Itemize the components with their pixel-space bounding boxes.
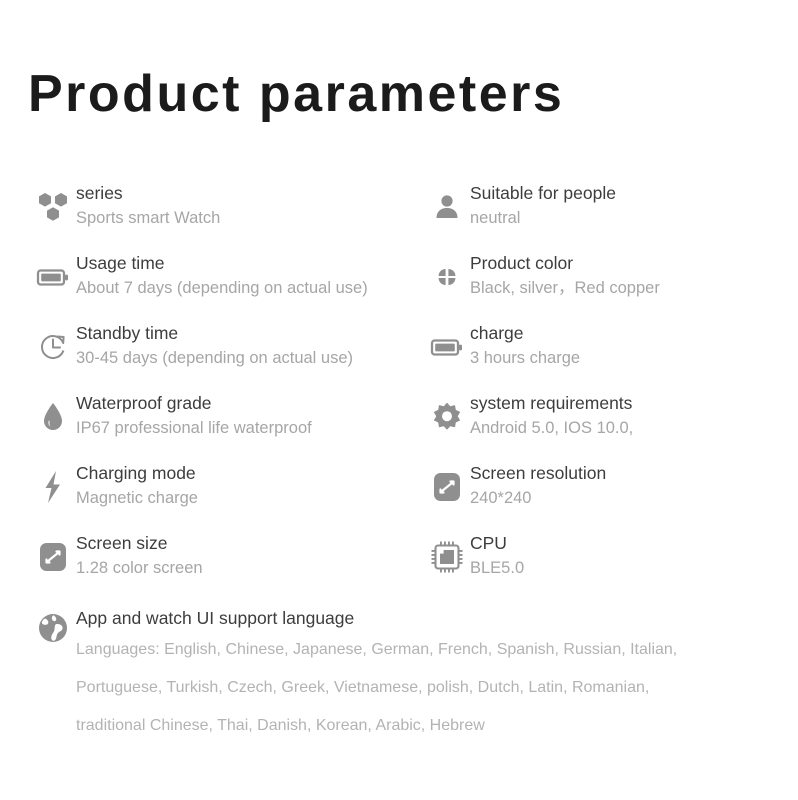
spec-text: Charging mode Magnetic charge [76,460,198,510]
battery-icon [30,252,76,302]
spec-label: Usage time [76,251,368,275]
language-line: Portuguese, Turkish, Czech, Greek, Vietn… [76,669,677,707]
spec-label: Product color [470,251,660,275]
spec-text: Screen size 1.28 color screen [76,530,203,580]
globe-icon [30,605,76,661]
spec-label: Screen size [76,531,203,555]
spec-row: Suitable for people neutral [412,180,798,250]
spec-label: CPU [470,531,524,555]
spec-value: Magnetic charge [76,486,198,510]
language-line: Languages: English, Chinese, Japanese, G… [76,631,677,669]
spec-row: Usage time About 7 days (depending on ac… [0,250,412,320]
spec-value: IP67 professional life waterproof [76,416,312,440]
spec-label: Standby time [76,321,353,345]
spec-text: series Sports smart Watch [76,180,220,230]
language-line: traditional Chinese, Thai, Danish, Korea… [76,707,677,745]
spec-grid: series Sports smart Watch Suitable for p… [0,180,798,600]
spec-row: series Sports smart Watch [0,180,412,250]
person-icon [424,182,470,232]
battery-icon [424,322,470,372]
spec-row: Waterproof grade IP67 professional life … [0,390,412,460]
spec-value: Android 5.0, IOS 10.0, [470,416,633,440]
spec-text: Screen resolution 240*240 [470,460,606,510]
gear-icon [424,392,470,442]
spec-row: Charging mode Magnetic charge [0,460,412,530]
spec-text: Usage time About 7 days (depending on ac… [76,250,368,300]
spec-value: 30-45 days (depending on actual use) [76,346,353,370]
spec-row: CPU BLE5.0 [412,530,798,600]
spec-label: charge [470,321,580,345]
spec-text: Product color Black, silver，Red copper [470,250,660,300]
spec-text: Waterproof grade IP67 professional life … [76,390,312,440]
spec-value: neutral [470,206,616,230]
spec-text: CPU BLE5.0 [470,530,524,580]
lightning-bolt-icon [30,462,76,512]
spec-row: Standby time 30-45 days (depending on ac… [0,320,412,390]
spec-label: Screen resolution [470,461,606,485]
spec-value: 240*240 [470,486,606,510]
spec-text: Suitable for people neutral [470,180,616,230]
spec-value: About 7 days (depending on actual use) [76,276,368,300]
language-title: App and watch UI support language [76,605,677,631]
spec-row: Product color Black, silver，Red copper [412,250,798,320]
spec-value: BLE5.0 [470,556,524,580]
spec-row: charge 3 hours charge [412,320,798,390]
spec-row: Screen size 1.28 color screen [0,530,412,600]
spec-value: 3 hours charge [470,346,580,370]
spec-label: Waterproof grade [76,391,312,415]
spec-label: Charging mode [76,461,198,485]
screen-expand-icon [424,462,470,512]
spec-label: series [76,181,220,205]
spec-label: Suitable for people [470,181,616,205]
page-title: Product parameters [28,68,564,120]
language-text: App and watch UI support language Langua… [76,605,677,745]
language-support-section: App and watch UI support language Langua… [30,605,770,745]
spec-value: 1.28 color screen [76,556,203,580]
spec-text: Standby time 30-45 days (depending on ac… [76,320,353,370]
spec-text: system requirements Android 5.0, IOS 10.… [470,390,633,440]
water-drop-icon [30,392,76,442]
spec-value: Black, silver，Red copper [470,276,660,300]
hexagon-cluster-icon [30,182,76,232]
product-parameters-page: Product parameters series Sports smart W… [0,0,798,800]
spec-label: system requirements [470,391,633,415]
screen-expand-icon [30,532,76,582]
cpu-chip-icon [424,532,470,582]
spec-row: Screen resolution 240*240 [412,460,798,530]
spec-row: system requirements Android 5.0, IOS 10.… [412,390,798,460]
clock-restore-icon [30,322,76,372]
spec-value: Sports smart Watch [76,206,220,230]
clover-icon [424,252,470,302]
spec-text: charge 3 hours charge [470,320,580,370]
